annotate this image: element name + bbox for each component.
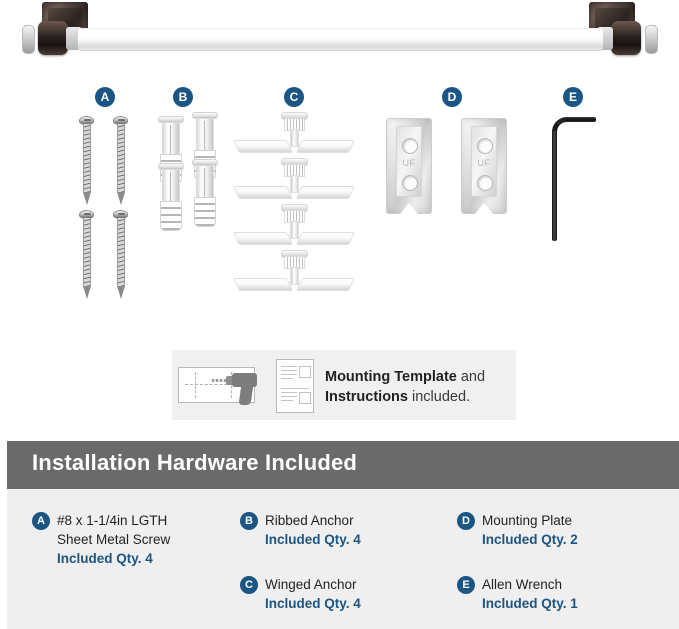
anchor-body: [162, 122, 180, 156]
hardware-item-a-text: #8 x 1-1/4in LGTH Sheet Metal Screw Incl…: [57, 511, 247, 568]
hardware-item-a-name-line1: #8 x 1-1/4in LGTH: [57, 511, 247, 530]
template-centerline-vertical-left: [195, 372, 196, 398]
winged-anchor-wing-right: [296, 186, 355, 199]
winged-anchor-wing-left: [233, 232, 293, 245]
installation-hardware-header: Installation Hardware Included: [7, 441, 679, 489]
hardware-item-b-name: Ribbed Anchor: [265, 511, 455, 530]
hardware-badge-c: C: [240, 576, 258, 594]
sheet-metal-screw: [79, 210, 94, 300]
winged-anchor-wing-left: [233, 278, 293, 291]
hardware-item-c-text: Winged Anchor Included Qty. 4: [265, 575, 455, 613]
towel-bar-post-left: [38, 21, 68, 55]
winged-anchor-wing-left: [233, 140, 293, 153]
doc-line: [281, 378, 293, 379]
towel-bar-endcap-left: [22, 25, 35, 54]
product-photo: [0, 0, 679, 72]
sheet-metal-screw: [113, 116, 128, 206]
sheet-metal-screw: [113, 210, 128, 300]
screw-shaft: [117, 218, 125, 286]
mounting-plate: UF: [386, 118, 432, 214]
winged-anchor: [239, 250, 349, 304]
towel-bar-post-right: [611, 21, 641, 55]
marker-a: A: [95, 87, 115, 107]
doc-line: [281, 388, 309, 389]
hardware-item-d-text: Mounting Plate Included Qty. 2: [482, 511, 672, 549]
marker-e: E: [563, 87, 583, 107]
hardware-item-d-qty: Included Qty. 2: [482, 530, 672, 549]
winged-anchor-stem: [290, 221, 299, 239]
screw-shaft: [117, 124, 125, 192]
hardware-item-d-name: Mounting Plate: [482, 511, 672, 530]
mounting-plate-hole-top: [477, 138, 493, 154]
template-text-line2-bold: Instructions: [325, 389, 408, 405]
doc-thumbnail: [299, 366, 311, 378]
winged-anchor-stem: [290, 267, 299, 285]
screw-shaft: [83, 218, 91, 286]
hardware-item-e-name: Allen Wrench: [482, 575, 672, 594]
doc-line: [281, 396, 297, 397]
doc-line: [281, 366, 297, 367]
hardware-item-a-qty: Included Qty. 4: [57, 549, 247, 568]
hardware-item-b-qty: Included Qty. 4: [265, 530, 455, 549]
allen-wrench-short-arm: [566, 117, 596, 122]
template-text-line2: Instructions included.: [325, 387, 510, 407]
hardware-item-c-qty: Included Qty. 4: [265, 594, 455, 613]
mounting-plate-logo: UF: [470, 157, 498, 169]
anchor-ribs: [160, 201, 182, 231]
mounting-plate-hole-top: [402, 138, 418, 154]
hardware-item-a-name-line2: Sheet Metal Screw: [57, 530, 247, 549]
screw-tip: [117, 192, 125, 205]
allen-wrench-long-arm: [552, 131, 557, 241]
mounting-plate-hole-bottom: [402, 175, 418, 191]
mounting-plate-notch: [475, 203, 493, 214]
towel-bar-endcap-right: [645, 25, 658, 54]
screw-shaft: [83, 124, 91, 192]
anchor-body: [162, 169, 180, 203]
anchor-body: [196, 118, 214, 152]
doc-line: [281, 374, 297, 375]
document-icon: [276, 359, 314, 413]
anchor-body: [196, 165, 214, 199]
screw-tip: [83, 192, 91, 205]
doc-line: [281, 370, 297, 371]
winged-anchor-wing-left: [233, 186, 293, 199]
marker-c: C: [284, 87, 304, 107]
mounting-plate-hole-bottom: [477, 175, 493, 191]
winged-anchor-stem: [290, 129, 299, 147]
sheet-metal-screw: [79, 116, 94, 206]
doc-thumbnail: [299, 392, 311, 404]
winged-anchor-wing-right: [296, 278, 355, 291]
mounting-template-panel: Mounting Template and Instructions inclu…: [172, 350, 516, 420]
template-text-line2-rest: included.: [408, 389, 470, 405]
installation-hardware-body: A #8 x 1-1/4in LGTH Sheet Metal Screw In…: [7, 489, 679, 629]
anchor-ribs: [194, 197, 216, 227]
template-text-line1: Mounting Template and: [325, 367, 510, 387]
hardware-badge-d: D: [457, 512, 475, 530]
winged-anchor-stem: [290, 175, 299, 193]
hardware-item-e-qty: Included Qty. 1: [482, 594, 672, 613]
mounting-plate-notch: [400, 203, 418, 214]
template-text-line1-bold: Mounting Template: [325, 369, 457, 385]
marker-d: D: [442, 87, 462, 107]
doc-line: [281, 400, 293, 401]
winged-anchor-wing-right: [296, 140, 355, 153]
screw-tip: [83, 286, 91, 299]
screw-tip: [117, 286, 125, 299]
hardware-item-c-name: Winged Anchor: [265, 575, 455, 594]
hardware-item-e-text: Allen Wrench Included Qty. 1: [482, 575, 672, 613]
ribbed-anchor: [192, 159, 218, 229]
hardware-item-b-text: Ribbed Anchor Included Qty. 4: [265, 511, 455, 549]
ribbed-anchor: [158, 163, 184, 233]
installation-hardware-title: Installation Hardware Included: [32, 450, 357, 476]
winged-anchor-wing-right: [296, 232, 355, 245]
hardware-badge-e: E: [457, 576, 475, 594]
towel-bar-rod: [78, 28, 603, 51]
installation-hardware-section: Installation Hardware Included A #8 x 1-…: [7, 441, 679, 629]
hardware-badge-a: A: [32, 512, 50, 530]
doc-line: [281, 392, 297, 393]
marker-b: B: [173, 87, 193, 107]
hardware-badge-b: B: [240, 512, 258, 530]
mounting-plate: UF: [461, 118, 507, 214]
mounting-plate-logo: UF: [395, 157, 423, 169]
mounting-template-text: Mounting Template and Instructions inclu…: [325, 367, 510, 407]
template-text-line1-rest: and: [457, 369, 485, 385]
